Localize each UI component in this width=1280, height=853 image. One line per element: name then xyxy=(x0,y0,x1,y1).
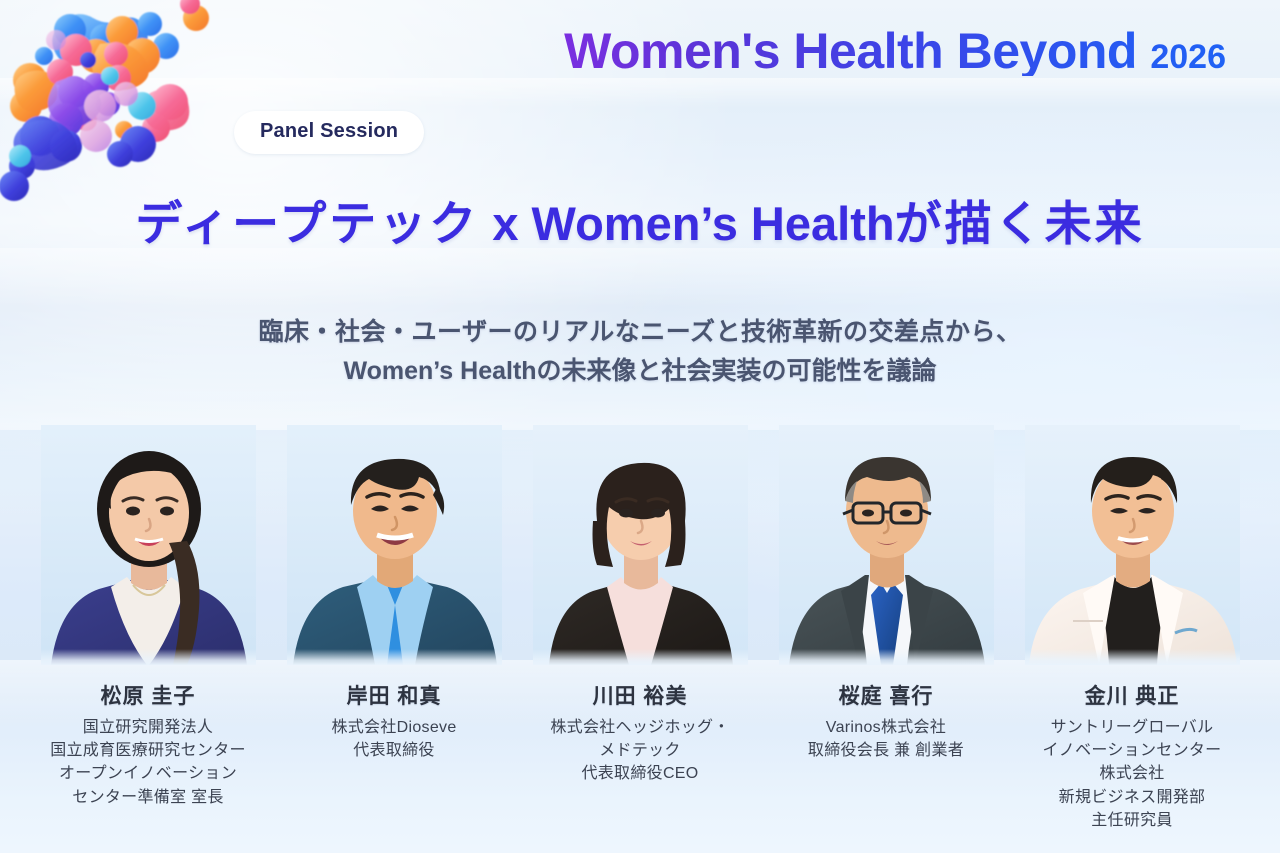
speaker-affiliation: 株式会社ヘッジホッグ・ メドテック 代表取締役CEO xyxy=(550,716,729,786)
photo-bottom-fade xyxy=(1025,649,1240,665)
speaker-affiliation-line: 取締役会長 兼 創業者 xyxy=(808,739,964,762)
speaker-affiliation: サントリーグローバル イノベーションセンター 株式会社 新規ビジネス開発部 主任… xyxy=(1043,716,1222,832)
speaker-photo-4 xyxy=(779,425,994,665)
abstract-blob-cluster-icon xyxy=(0,0,236,204)
avatar xyxy=(1025,425,1240,665)
speaker-affiliation-line: メドテック xyxy=(550,739,729,762)
speaker-affiliation-line: 代表取締役 xyxy=(331,739,456,762)
page-subtitle: 臨床・社会・ユーザーのリアルなニーズと技術革新の交差点から、 Women’s H… xyxy=(0,313,1280,391)
speaker-affiliation-line: 国立成育医療研究センター xyxy=(50,739,246,762)
page-subtitle-line-1: 臨床・社会・ユーザーのリアルなニーズと技術革新の交差点から、 xyxy=(0,313,1280,352)
speaker-list: 松原 圭子 国立研究開発法人 国立成育医療研究センター オープンイノベーション … xyxy=(0,425,1280,845)
speaker-photo-1 xyxy=(41,425,256,665)
speaker-affiliation-line: 株式会社Dioseve xyxy=(331,716,456,739)
speaker-affiliation-line: オープンイノベーション xyxy=(50,762,246,785)
background-band-1 xyxy=(0,78,1280,108)
page-title-part1: ディープテック xyxy=(135,197,479,250)
panel-session-badge: Panel Session xyxy=(234,111,424,154)
speaker-card: 金川 典正 サントリーグローバル イノベーションセンター 株式会社 新規ビジネス… xyxy=(1014,425,1250,832)
speaker-name: 金川 典正 xyxy=(1085,680,1180,710)
page-title: ディープテック x Women’s Healthが描く未来 xyxy=(0,198,1280,251)
page-title-part3: が描く未来 xyxy=(895,197,1145,250)
speaker-photo-2 xyxy=(287,425,502,665)
speaker-affiliation-line: 株式会社ヘッジホッグ・ xyxy=(550,716,729,739)
avatar xyxy=(533,425,748,665)
event-title-text: Women's Health Beyond xyxy=(564,23,1137,79)
speaker-affiliation-line: Varinos株式会社 xyxy=(808,716,964,739)
page-subtitle-line-2: Women’s Healthの未来像と社会実装の可能性を議論 xyxy=(0,352,1280,391)
speaker-card: 岸田 和真 株式会社Dioseve 代表取締役 xyxy=(276,425,512,762)
poster-root: Women's Health Beyond 2026 Panel Session… xyxy=(0,0,1280,853)
speaker-affiliation-line: 株式会社 xyxy=(1043,762,1222,785)
speaker-photo-3 xyxy=(533,425,748,665)
event-title: Women's Health Beyond 2026 xyxy=(564,26,1226,76)
avatar xyxy=(779,425,994,665)
page-title-part2: x Women’s Health xyxy=(479,197,894,250)
speaker-affiliation-line: 代表取締役CEO xyxy=(550,762,729,785)
speaker-affiliation: 国立研究開発法人 国立成育医療研究センター オープンイノベーション センター準備… xyxy=(50,716,246,809)
background-band-2 xyxy=(0,248,1280,308)
speaker-name: 桜庭 喜行 xyxy=(839,680,934,710)
speaker-affiliation-line: 国立研究開発法人 xyxy=(50,716,246,739)
event-year: 2026 xyxy=(1150,38,1226,76)
speaker-name: 松原 圭子 xyxy=(101,680,196,710)
speaker-name: 岸田 和真 xyxy=(347,680,442,710)
speaker-card: 松原 圭子 国立研究開発法人 国立成育医療研究センター オープンイノベーション … xyxy=(30,425,266,809)
photo-bottom-fade xyxy=(779,649,994,665)
photo-bottom-fade xyxy=(41,649,256,665)
speaker-affiliation-line: センター準備室 室長 xyxy=(50,786,246,809)
avatar xyxy=(41,425,256,665)
speaker-affiliation-line: イノベーションセンター xyxy=(1043,739,1222,762)
speaker-affiliation: Varinos株式会社 取締役会長 兼 創業者 xyxy=(808,716,964,762)
speaker-affiliation-line: 主任研究員 xyxy=(1043,809,1222,832)
avatar xyxy=(287,425,502,665)
speaker-card: 桜庭 喜行 Varinos株式会社 取締役会長 兼 創業者 xyxy=(768,425,1004,762)
speaker-affiliation-line: 新規ビジネス開発部 xyxy=(1043,786,1222,809)
speaker-affiliation-line: サントリーグローバル xyxy=(1043,716,1222,739)
speaker-photo-5 xyxy=(1025,425,1240,665)
photo-bottom-fade xyxy=(533,649,748,665)
speaker-affiliation: 株式会社Dioseve 代表取締役 xyxy=(331,716,456,762)
photo-bottom-fade xyxy=(287,649,502,665)
speaker-name: 川田 裕美 xyxy=(593,680,688,710)
speaker-card: 川田 裕美 株式会社ヘッジホッグ・ メドテック 代表取締役CEO xyxy=(522,425,758,786)
